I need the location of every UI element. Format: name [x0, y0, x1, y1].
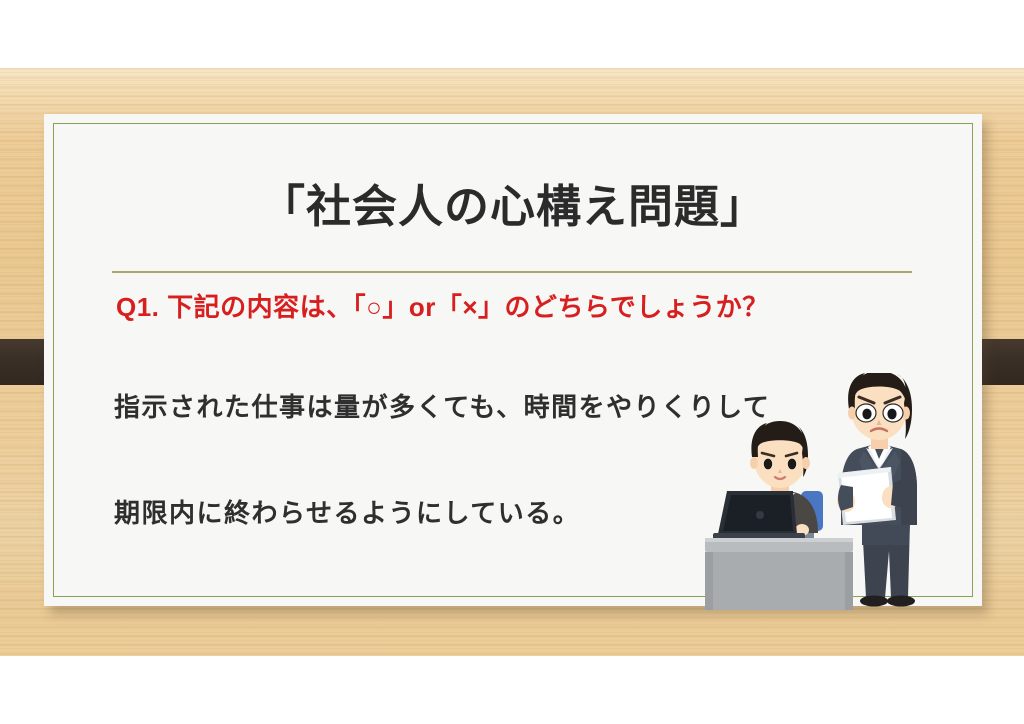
desk	[705, 538, 853, 610]
statement-line-2: 期限内に終わらせるようにしている。	[114, 493, 580, 530]
slide-canvas: 「社会人の心構え問題」 Q1. 下記の内容は、「○」or「×」のどちらでしょうか…	[0, 0, 1024, 724]
question-prompt: Q1. 下記の内容は、「○」or「×」のどちらでしょうか？	[116, 287, 936, 324]
office-scene-illustration	[705, 373, 955, 618]
statement-line-1: 指示された仕事は量が多くても、時間をやりくりして	[114, 387, 770, 424]
page-title: 「社会人の心構え問題」	[44, 170, 982, 235]
title-divider	[112, 271, 912, 273]
laptop	[713, 491, 805, 541]
